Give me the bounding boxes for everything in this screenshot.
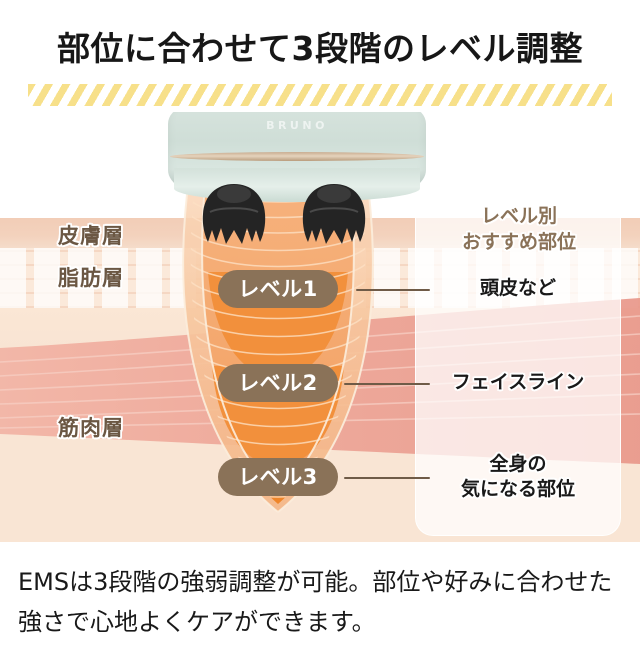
layer-label-skin: 皮膚層 [58,220,124,250]
level-pill-3: レベル3 [218,458,338,496]
recommended-areas-title: レベル別 おすすめ部位 [416,203,622,255]
header: 部位に合わせて3段階のレベル調整 [0,0,640,112]
level-pill-1: レベル1 [218,270,338,308]
footer-caption: EMSは3段階の強弱調整が可能。部位や好みに合わせた強さで心地よくケアができます… [18,562,626,642]
target-label-level-1: 頭皮など [415,276,621,301]
page-title-text: 部位に合わせて3段階のレベル調整 [57,28,583,70]
device-illustration: BRUNO [168,112,426,240]
massage-head-left-icon [196,182,272,246]
target-label-level-3: 全身の 気になる部位 [415,452,621,502]
target-label-level-2: フェイスライン [415,370,621,395]
page-title: 部位に合わせて3段階のレベル調整 [0,28,640,70]
title-highlight-stripe [28,84,612,106]
massage-head-right-icon [296,182,372,246]
illustration-stage: BRUNO 皮膚層 脂肪層 筋肉層 レベル別 おすすめ部位 [0,112,640,542]
layer-label-muscle: 筋肉層 [58,412,124,442]
device-gold-ring [170,152,424,161]
layer-label-fat: 脂肪層 [58,262,124,292]
footer: EMSは3段階の強弱調整が可能。部位や好みに合わせた強さで心地よくケアができます… [0,542,640,653]
infographic-page: 部位に合わせて3段階のレベル調整 [0,0,640,653]
device-brand-logo: BRUNO [168,119,426,132]
level-pill-2: レベル2 [218,364,338,402]
